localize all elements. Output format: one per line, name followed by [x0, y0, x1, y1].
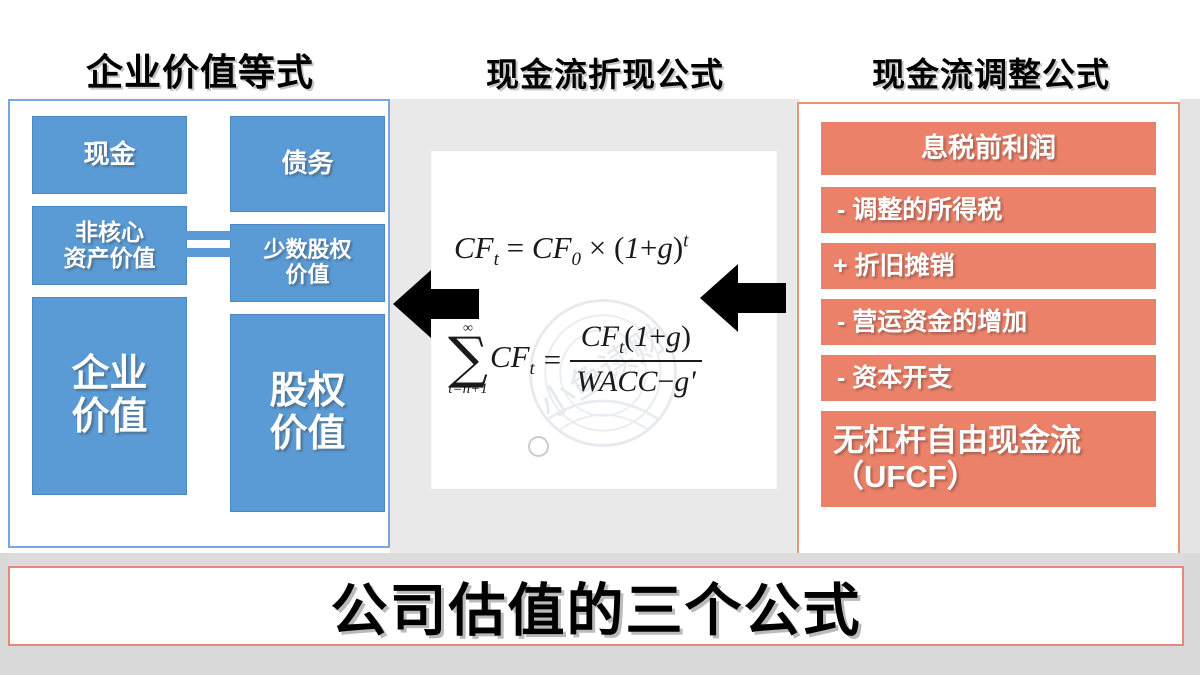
formula-perpetuity: ∞ ∑ t=n+1 CFt = CFt(1+g) WACC−g': [448, 320, 702, 399]
cashflow-adjustment-panel: 息税前利润 - 调整的所得税 + 折旧摊销 - 营运资金的增加 - 资本开支 无…: [797, 102, 1180, 557]
box-minority-interest-value[interactable]: 少数股权 价值: [230, 224, 385, 302]
left-gray-strip: [0, 553, 8, 646]
arrow-right-to-center-icon: [700, 262, 786, 334]
right-panel-title: 现金流调整公式: [800, 48, 1182, 96]
item-depreciation-amortization[interactable]: + 折旧摊销: [821, 243, 1156, 289]
left-panel-title: 企业价值等式: [0, 42, 400, 96]
right-gray-strip: [1184, 553, 1200, 646]
box-enterprise-value[interactable]: 企业 价值: [32, 297, 187, 495]
box-equity-value[interactable]: 股权 价值: [230, 314, 385, 512]
arrow-left-icon: [393, 268, 479, 340]
formula-growth: CFt = CF0 × (1+g)t: [454, 230, 688, 271]
enterprise-value-panel: 现金 债务 非核心 资产价值 少数股权 价值 企业 价值 股权 价值: [8, 99, 390, 548]
slide-canvas: 企业价值等式 现金流折现公式 现金流调整公式 现金 债务 非核心 资产价值 少数…: [0, 0, 1200, 675]
item-working-capital-increase[interactable]: - 营运资金的增加: [821, 299, 1156, 345]
center-panel-title: 现金流折现公式: [420, 48, 790, 96]
item-capital-expenditure[interactable]: - 资本开支: [821, 355, 1156, 401]
decorative-circle-icon: [528, 436, 549, 457]
item-adjusted-tax[interactable]: - 调整的所得税: [821, 187, 1156, 233]
box-noncore-asset-value[interactable]: 非核心 资产价值: [32, 206, 187, 285]
banner-title: 公司估值的三个公式: [331, 565, 862, 647]
equals-sign-icon: [180, 229, 238, 259]
box-cash[interactable]: 现金: [32, 116, 187, 194]
bottom-gray-strip: [0, 646, 1200, 675]
item-unlevered-free-cash-flow[interactable]: 无杠杆自由现金流 （UFCF）: [821, 411, 1156, 507]
box-debt[interactable]: 债务: [230, 116, 385, 212]
bottom-banner: 公司估值的三个公式: [8, 566, 1184, 646]
right-edge-background: [1180, 99, 1200, 554]
item-ebit[interactable]: 息税前利润: [821, 122, 1156, 175]
